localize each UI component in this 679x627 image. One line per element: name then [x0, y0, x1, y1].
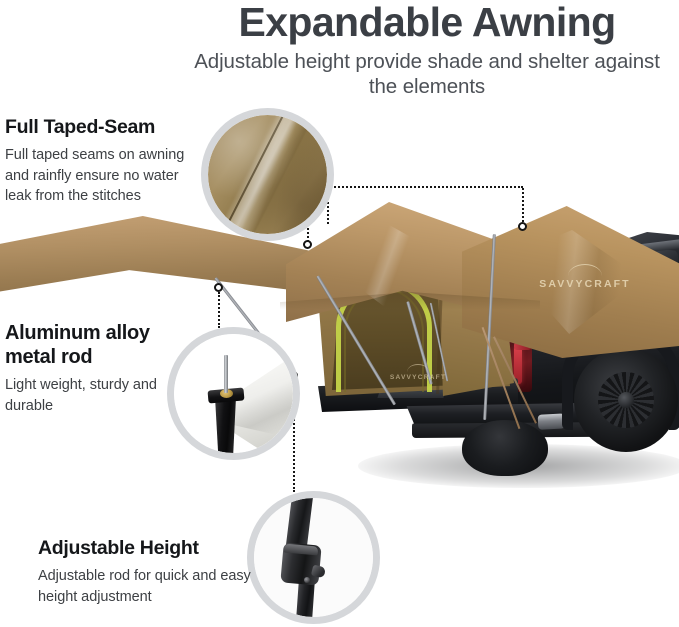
brand-wordmark-small: SAVVYCRAFT	[390, 374, 446, 381]
leader-node-canopy-right	[518, 222, 527, 231]
infographic-canvas: Expandable Awning Adjustable height prov…	[0, 0, 679, 627]
wheel-hub	[618, 392, 634, 408]
page-title: Expandable Awning	[178, 2, 676, 44]
brand-arch-icon-small	[407, 364, 429, 372]
leader-rod-vertical	[218, 292, 220, 328]
feature-heading-taped-seam: Full Taped-Seam	[5, 116, 205, 139]
pole-clamp-screw	[304, 577, 310, 583]
feature-body-aluminum-rod: Light weight, sturdy and durable	[5, 375, 185, 416]
callout-adjustable-height-image	[254, 498, 373, 617]
page-subtitle: Adjustable height provide shade and shel…	[178, 49, 676, 99]
feature-adjustable-height: Adjustable Height Adjustable rod for qui…	[38, 537, 253, 607]
brand-arch-icon	[568, 264, 602, 276]
leader-seam-horizontal	[327, 186, 523, 188]
callout-aluminum-rod	[167, 327, 300, 460]
leader-node-awning-foot	[214, 283, 223, 292]
callout-taped-seam-image	[208, 115, 327, 234]
feature-body-adjustable-height: Adjustable rod for quick and easy height…	[38, 566, 253, 607]
product-photo-scene: SAVVYCRAFT SAVVYCRAFT	[262, 196, 679, 526]
callout-adjustable-height	[247, 491, 380, 624]
leader-seam-vertical-right	[522, 188, 524, 226]
rod-metal-pin	[224, 355, 228, 393]
callout-aluminum-rod-image	[174, 334, 293, 453]
header: Expandable Awning Adjustable height prov…	[178, 2, 676, 99]
rod-plastic-foot	[215, 397, 236, 453]
feature-body-taped-seam: Full taped seams on awning and rainfly e…	[5, 145, 205, 207]
feature-heading-aluminum-rod: Aluminum alloy metal rod	[5, 322, 185, 369]
differential	[462, 420, 548, 476]
feature-aluminum-rod: Aluminum alloy metal rod Light weight, s…	[5, 322, 185, 416]
feature-heading-adjustable-height: Adjustable Height	[38, 537, 253, 560]
feature-full-taped-seam: Full Taped-Seam Full taped seams on awni…	[5, 116, 205, 207]
callout-taped-seam	[201, 108, 334, 241]
brand-wordmark: SAVVYCRAFT	[539, 278, 630, 290]
seam-highlight	[208, 115, 327, 234]
brand-logo-tent: SAVVYCRAFT	[380, 364, 456, 381]
brand-logo-canopy: SAVVYCRAFT	[530, 264, 640, 290]
